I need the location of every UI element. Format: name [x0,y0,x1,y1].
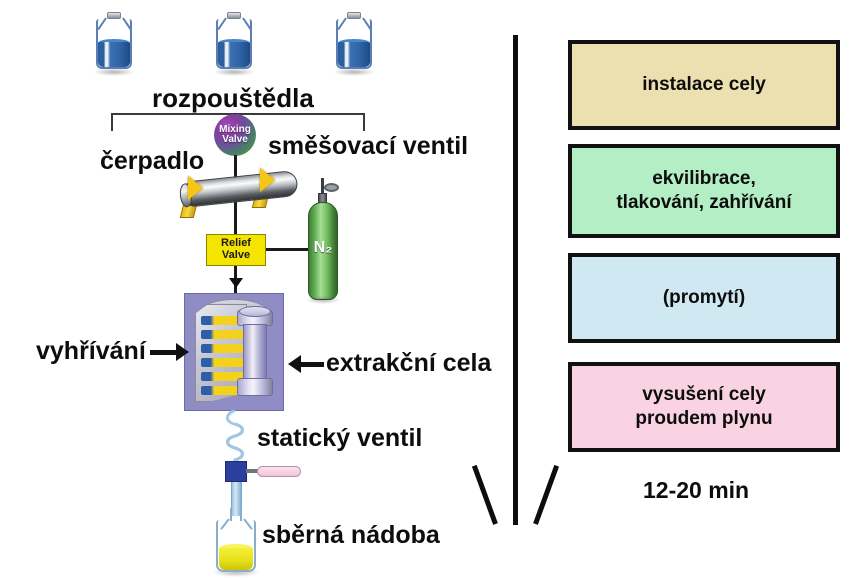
label-collection-vessel: sběrná nádoba [262,522,440,549]
timeline-total-time: 12-20 min [643,478,749,503]
bottle-cap [227,12,241,19]
timeline-arrow-head-left [472,465,498,525]
static-valve-handle [257,466,301,477]
nitrogen-cylinder: N₂ [308,202,338,300]
label-solvents: rozpouštědla [152,84,314,112]
label-mixing-valve: směšovací ventil [268,133,468,160]
pump-assembly [178,172,318,230]
bottle-liquid [98,42,130,67]
extraction-cell-pointer-line [300,362,324,367]
heating-pointer-arrowhead [176,343,189,361]
cylinder-valve-knob [324,183,339,192]
step-box-equilibration[interactable]: ekvilibrace, tlakování, zahřívání [568,144,840,238]
pump-clamp-left [188,176,203,200]
extraction-cell-tube [243,324,267,382]
bottle-shadow [213,68,255,76]
label-static-valve: statický ventil [257,425,422,452]
step-box-drying[interactable]: vysušení cely proudem plynu [568,362,840,452]
relief-valve-label-line2: Valve [222,250,250,262]
oven-enclosure [184,293,284,411]
extraction-cell-top-face [239,306,271,317]
step-box-label: (promytí) [663,286,745,310]
label-pump: čerpadlo [100,148,204,175]
step-box-label: instalace cely [642,73,766,97]
vial-liquid [219,548,253,570]
cylinder-shadow [306,296,340,304]
step-box-rinse[interactable]: (promytí) [568,253,840,343]
timeline-arrow-shaft [513,35,518,525]
mixing-valve-icon: Mixing Valve [214,114,256,156]
pump-clamp-right [260,168,275,192]
flow-direction-arrowhead [229,278,243,288]
vial-neck [230,508,242,521]
bottle-liquid [218,42,250,67]
step-box-label-line1: ekvilibrace, [652,167,756,191]
label-extraction-cell: extrakční cela [326,350,491,377]
step-box-label-line2: tlakování, zahřívání [616,191,791,215]
extraction-cell-bottom-cap [237,378,273,396]
step-box-label-line1: vysušení cely [642,383,766,407]
collection-vessel [212,508,260,574]
bottle-liquid [338,42,370,67]
nitrogen-cylinder-assembly: N₂ [305,178,345,303]
bottle-shadow [93,68,135,76]
bottle-shadow [333,68,375,76]
solvent-bottle-2 [211,12,257,74]
coiled-tubing [218,410,252,466]
mixing-valve-label-line2: Valve [222,135,248,145]
static-valve [225,461,247,482]
nitrogen-label: N₂ [309,239,337,257]
bottle-cap [107,12,121,19]
timeline-arrow-head-right [533,465,559,525]
solvent-bottle-1 [91,12,137,74]
heating-pointer-line [150,350,176,355]
step-box-installation[interactable]: instalace cely [568,40,840,130]
heating-coil-row [201,358,245,367]
relief-valve: Relief Valve [206,234,266,266]
diagram-canvas: rozpouštědla Mixing Valve směšovací vent… [0,0,866,578]
heating-coil-row [201,330,245,339]
heating-coil-row [201,344,245,353]
label-heating: vyhřívání [36,338,146,365]
bottle-cap [347,12,361,19]
step-box-label-line2: proudem plynu [635,407,772,431]
solvent-bottle-3 [331,12,377,74]
